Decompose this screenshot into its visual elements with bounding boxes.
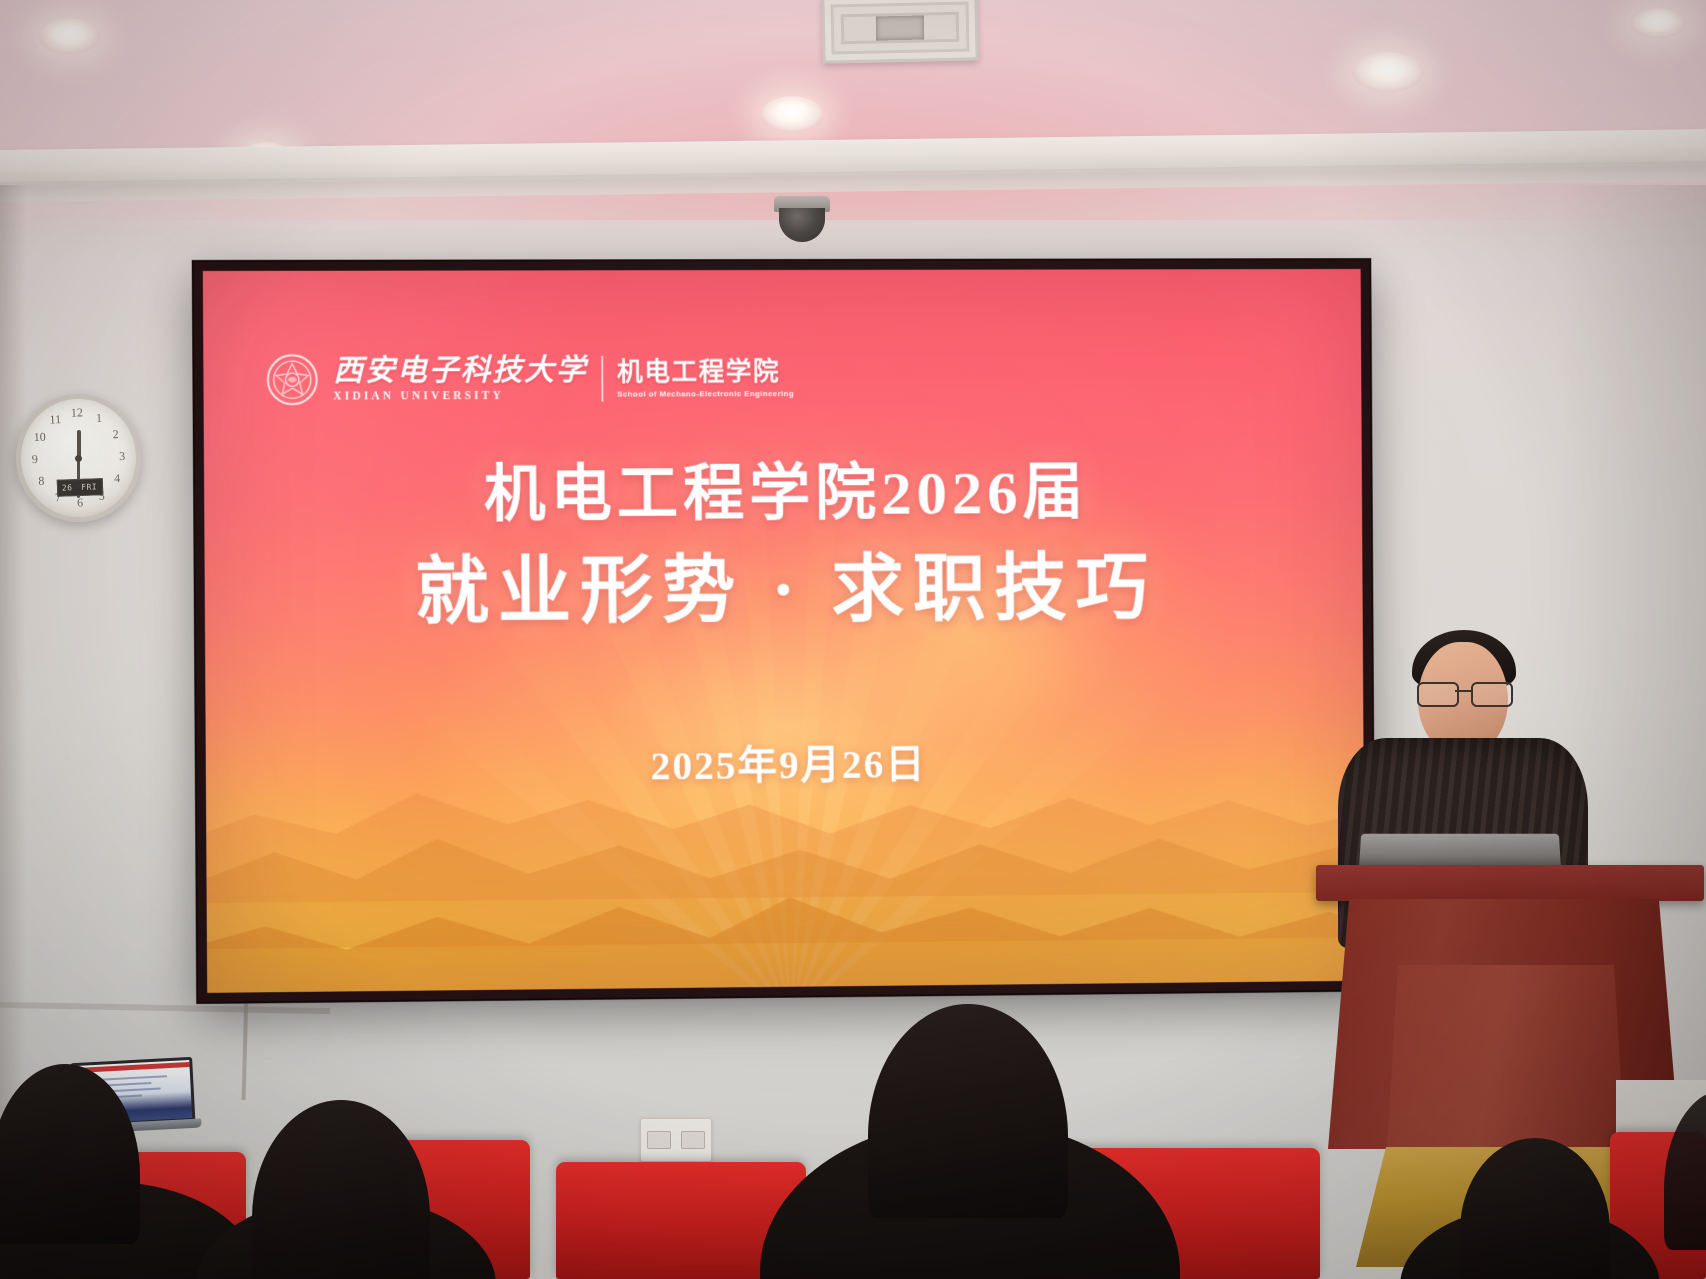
hvac-vent-core	[876, 15, 925, 41]
clock-date-day: 26	[62, 483, 73, 492]
ceiling-downlight-icon	[38, 18, 100, 54]
university-name-block: 西安电子科技大学 XIDIAN UNIVERSITY	[333, 356, 588, 403]
clock-numeral: 8	[33, 474, 50, 490]
clock-date-weekday: FRI	[81, 483, 97, 493]
clock-numeral: 9	[27, 452, 44, 468]
clock-center-pin	[75, 454, 82, 461]
lectern-top	[1316, 865, 1704, 901]
school-name-block: 机电工程学院 School of Mechano-Electronic Engi…	[617, 358, 794, 398]
logo-divider	[601, 356, 603, 402]
university-name-en: XIDIAN UNIVERSITY	[333, 390, 587, 403]
eyeglasses-icon	[1415, 682, 1513, 704]
lectern-front-panel	[1386, 965, 1626, 1165]
clock-numeral: 6	[72, 495, 89, 511]
camera-dome	[779, 208, 825, 242]
clock-numeral: 3	[114, 449, 131, 465]
university-crest-icon	[265, 353, 319, 407]
clock-numeral: 10	[32, 429, 49, 445]
school-name-cn: 机电工程学院	[617, 358, 794, 384]
clock-date-window: 26 FRI	[56, 478, 103, 497]
slide-title-line-2: 就业形势 · 求职技巧	[204, 542, 1362, 640]
clock-hour-hand	[77, 430, 81, 458]
clock-numeral: 4	[109, 471, 126, 487]
lecture-hall-photo: 12 1 2 3 4 5 6 7 8 9 10 11 26 FRI	[0, 0, 1706, 1279]
mountain-layer-near	[203, 813, 1365, 993]
ceiling-downlight-icon	[1630, 8, 1686, 38]
dome-security-camera-icon	[774, 196, 830, 242]
clock-numeral: 12	[69, 405, 86, 421]
clock-numeral: 2	[107, 426, 124, 442]
slide-ray-burst	[203, 321, 1365, 993]
clock-numeral: 1	[91, 411, 108, 427]
mountain-layer-mid	[203, 770, 1365, 950]
school-name-en: School of Mechano-Electronic Engineering	[617, 389, 794, 399]
projection-screen: 西安电子科技大学 XIDIAN UNIVERSITY 机电工程学院 School…	[203, 269, 1365, 993]
slide-title-line-1: 机电工程学院2026届	[204, 456, 1362, 534]
outlet-socket	[681, 1131, 705, 1149]
ceiling-downlight-icon	[1352, 52, 1424, 92]
projection-screen-frame: 西安电子科技大学 XIDIAN UNIVERSITY 机电工程学院 School…	[194, 260, 1374, 1002]
eyeglass-bridge	[1455, 690, 1471, 692]
outlet-socket	[647, 1131, 671, 1149]
eyeglass-lens-left	[1417, 682, 1459, 707]
hvac-vent-icon	[821, 0, 978, 64]
power-outlet-icon	[640, 1118, 712, 1162]
slide-date: 2025年9月26日	[206, 728, 1364, 795]
slide-logo-lockup: 西安电子科技大学 XIDIAN UNIVERSITY 机电工程学院 School…	[265, 351, 794, 406]
eyeglass-lens-right	[1471, 682, 1513, 707]
clock-numeral: 11	[47, 412, 64, 428]
university-name-cn: 西安电子科技大学	[333, 356, 587, 387]
slide-title-block: 机电工程学院2026届 就业形势 · 求职技巧	[204, 456, 1363, 640]
ceiling-downlight-icon	[760, 96, 824, 132]
